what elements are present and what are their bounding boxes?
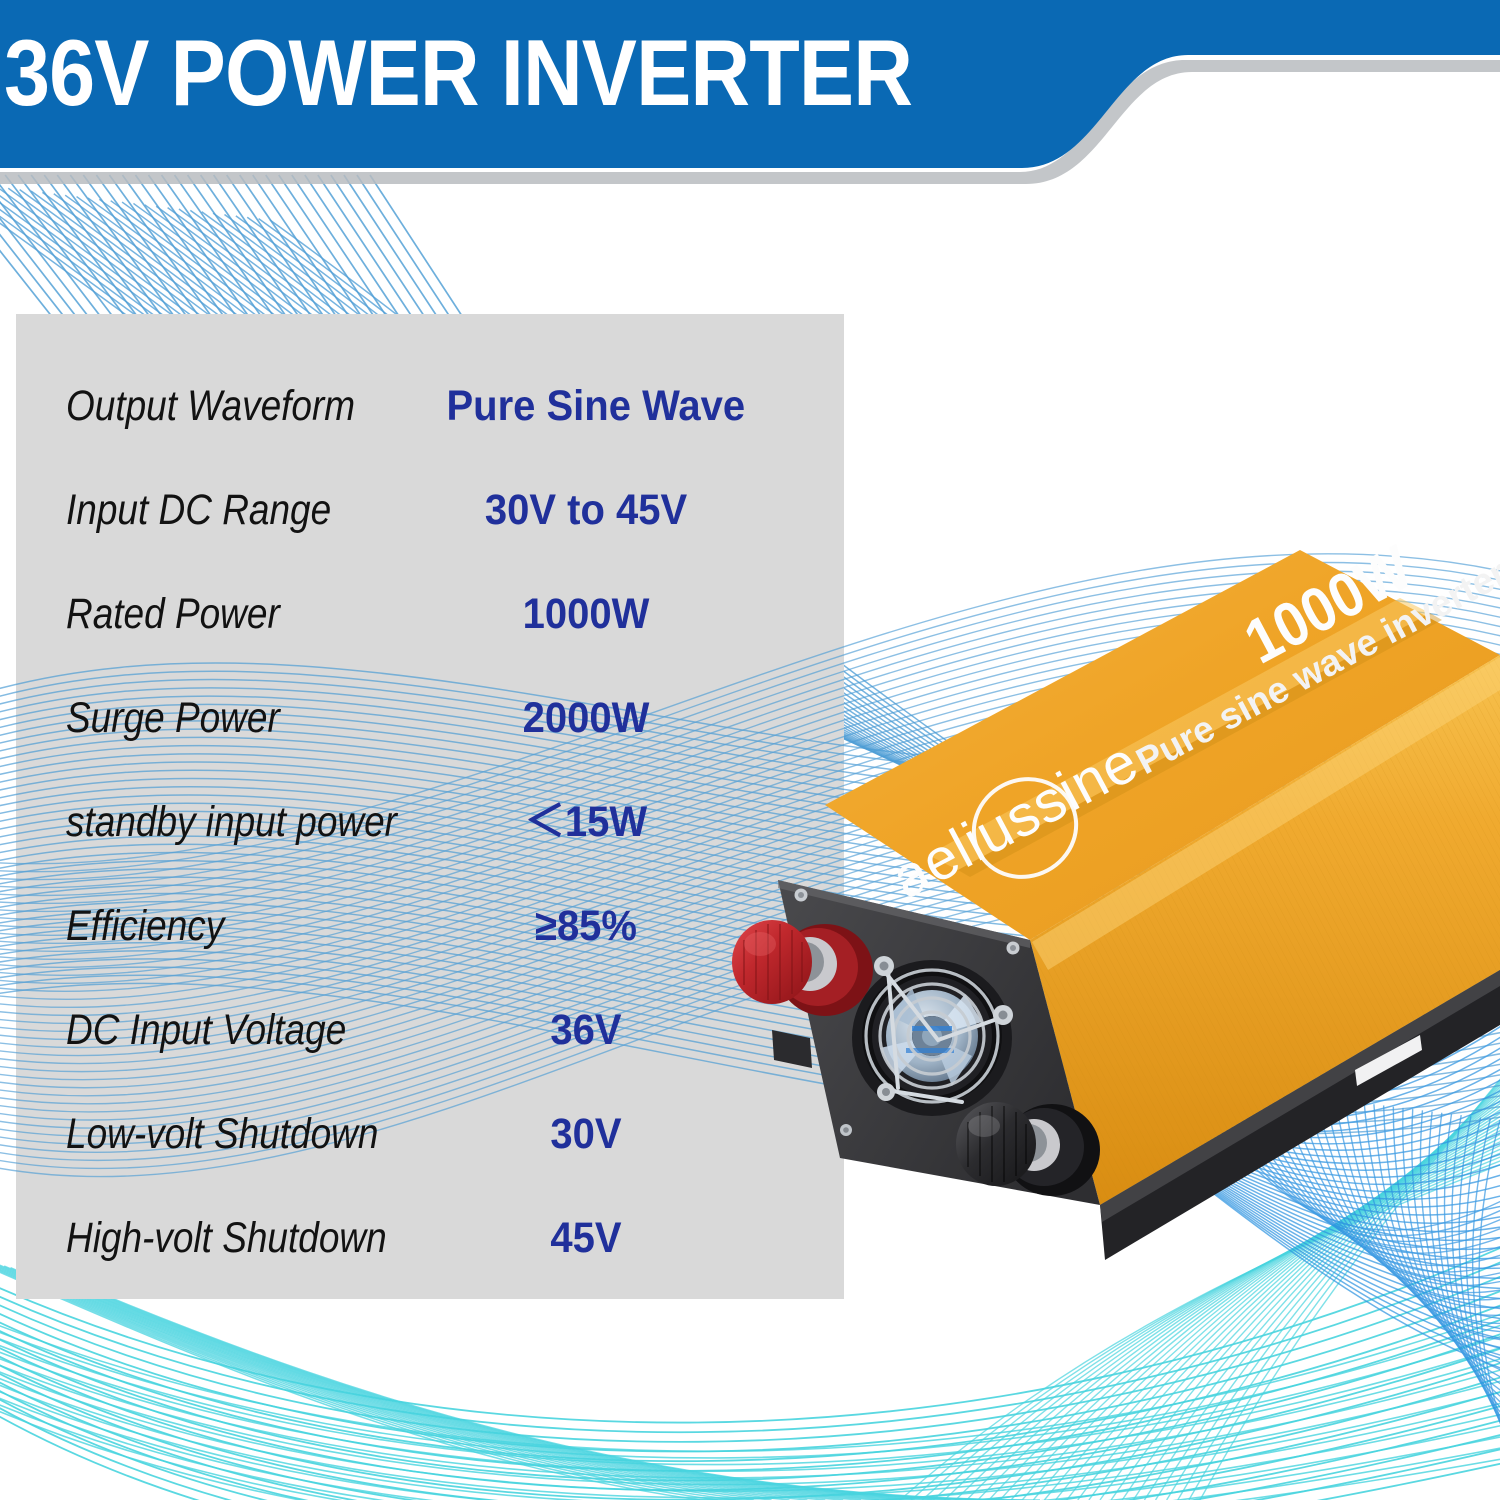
spec-label: standby input power (66, 792, 397, 852)
spec-value: 1000W (447, 584, 726, 644)
spec-value: ＜15W (447, 792, 726, 852)
spec-row: Efficiency≥85% (16, 896, 844, 956)
header-banner: 36V POWER INVERTER (0, 0, 1500, 185)
page-title: 36V POWER INVERTER (4, 26, 912, 120)
spec-row: Rated Power1000W (16, 584, 844, 644)
spec-row: Output WaveformPure Sine Wave (16, 376, 844, 436)
spec-label: DC Input Voltage (66, 1000, 346, 1060)
spec-value: 30V to 45V (447, 480, 726, 540)
spec-table: Output WaveformPure Sine WaveInput DC Ra… (16, 314, 844, 1299)
spec-label: Surge Power (66, 688, 280, 748)
spec-row: DC Input Voltage36V (16, 1000, 844, 1060)
spec-value: 36V (447, 1000, 726, 1060)
spec-label: Low-volt Shutdown (66, 1104, 378, 1164)
spec-row: High-volt Shutdown45V (16, 1208, 844, 1268)
spec-value: 2000W (447, 688, 726, 748)
spec-row: Input DC Range30V to 45V (16, 480, 844, 540)
spec-label: Input DC Range (66, 480, 331, 540)
spec-label: High-volt Shutdown (66, 1208, 387, 1268)
spec-label: Output Waveform (66, 376, 355, 436)
spec-value: 45V (447, 1208, 726, 1268)
spec-row: Low-volt Shutdown30V (16, 1104, 844, 1164)
spec-value: Pure Sine Wave (447, 376, 726, 436)
spec-row: Surge Power2000W (16, 688, 844, 748)
spec-value: 30V (447, 1104, 726, 1164)
spec-label: Efficiency (66, 896, 224, 956)
product-infographic: aeliussine 1000W Pure sine wave inverter… (0, 0, 1500, 1500)
spec-label: Rated Power (66, 584, 280, 644)
spec-row: standby input power＜15W (16, 792, 844, 852)
spec-value: ≥85% (447, 896, 726, 956)
